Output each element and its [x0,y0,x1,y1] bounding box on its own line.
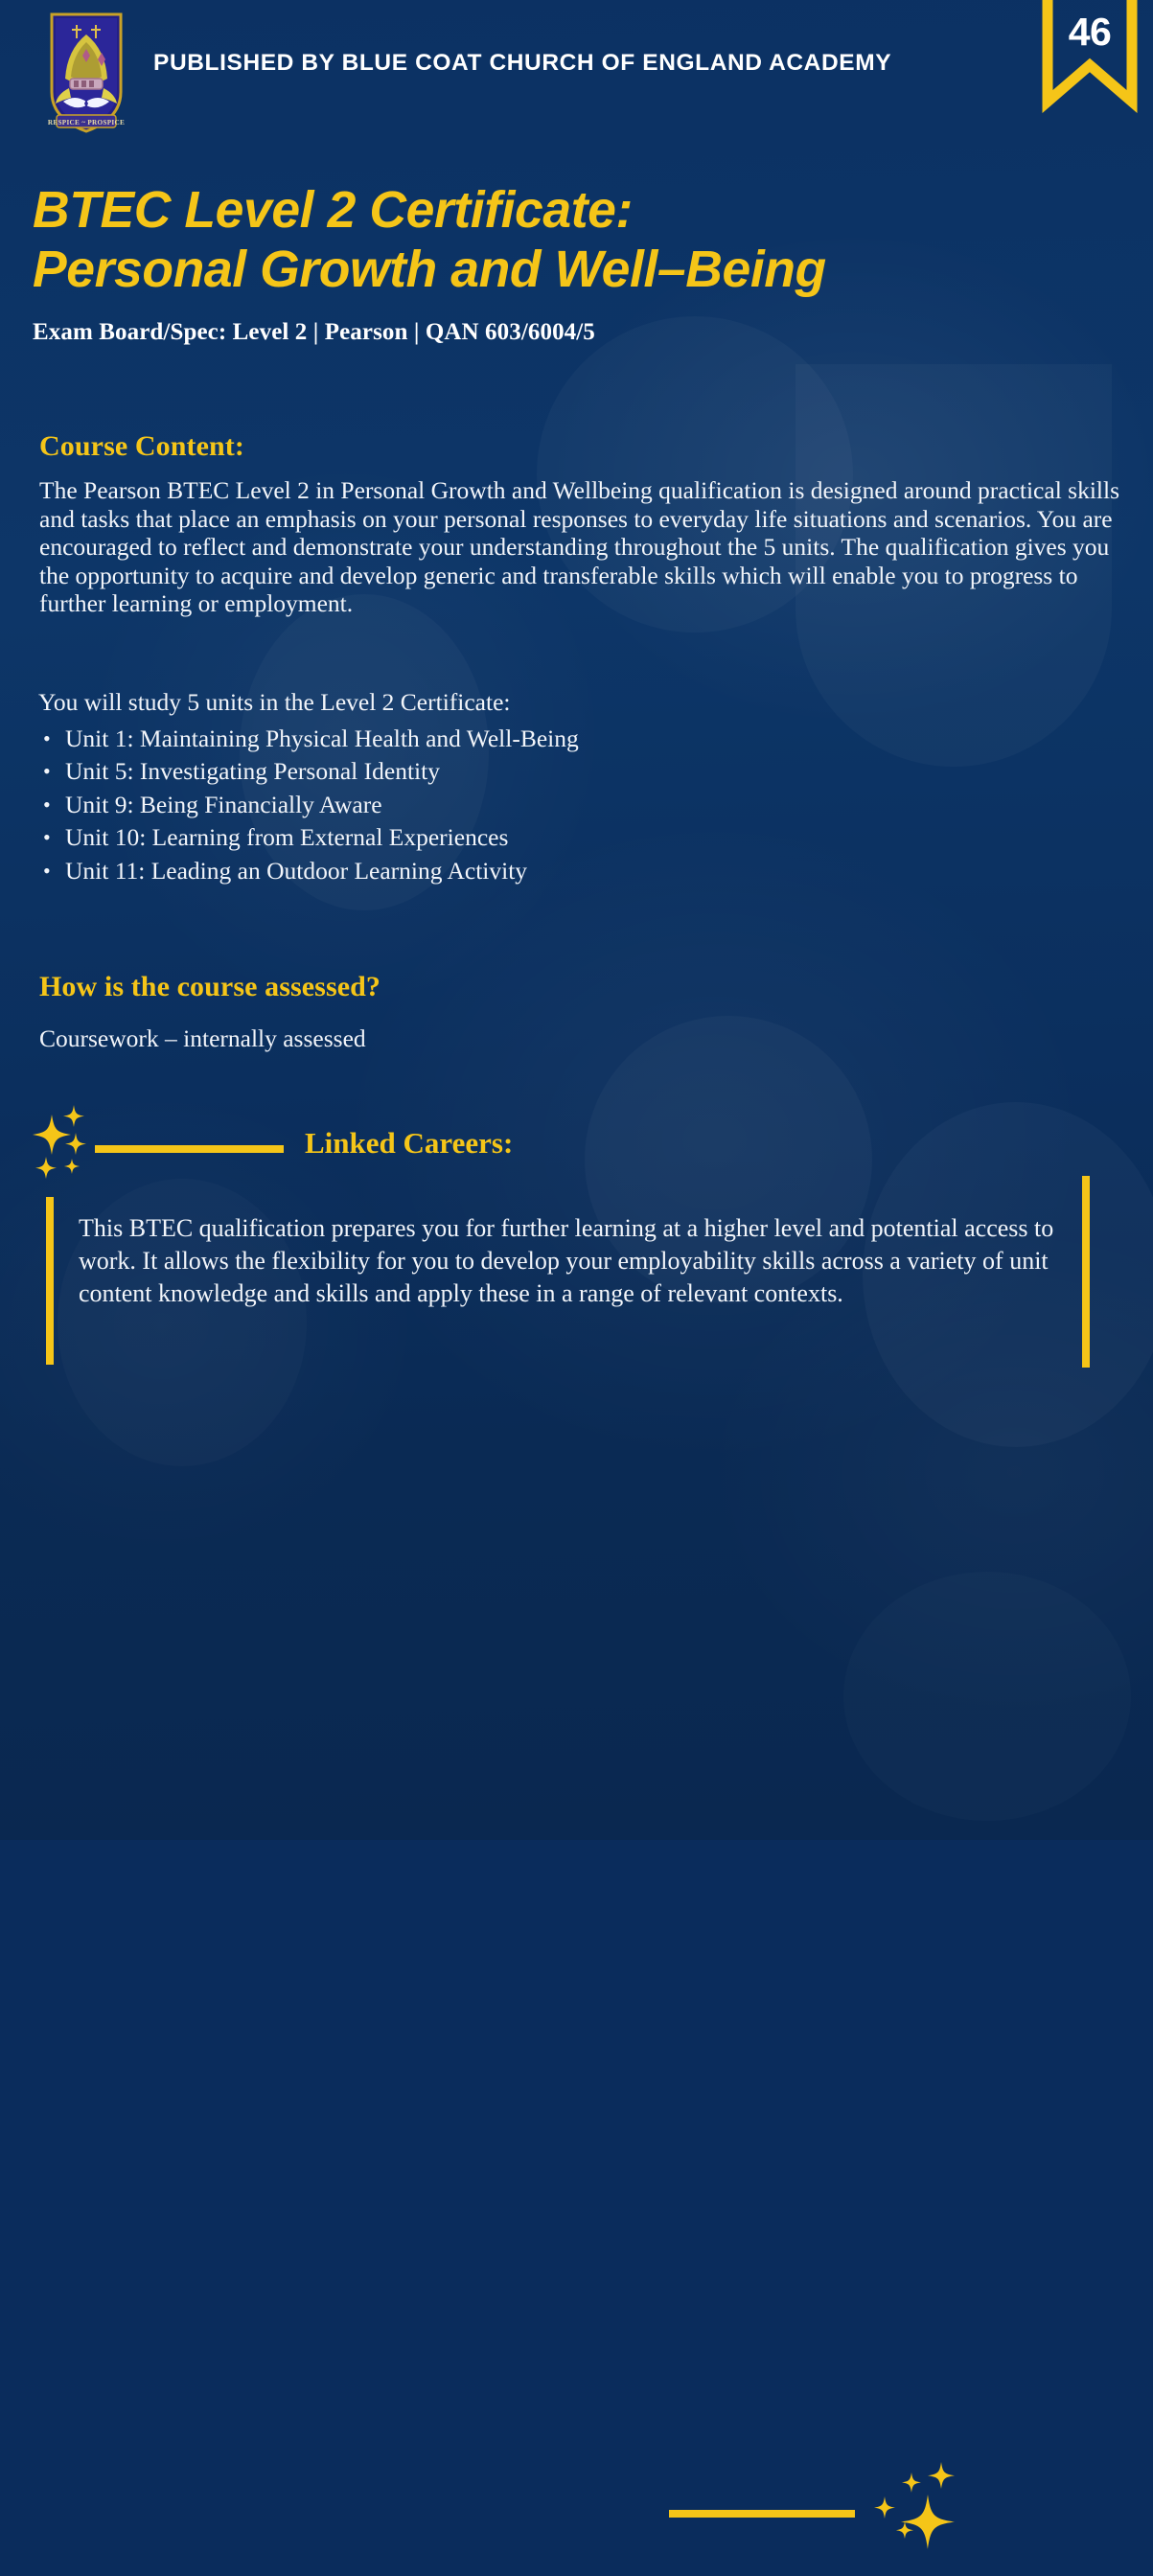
published-by-label: PUBLISHED BY BLUE COAT CHURCH OF ENGLAND… [153,50,891,77]
page-title-line-2: Personal Growth and Well–Being [33,240,1124,299]
list-item: Unit 1: Maintaining Physical Health and … [38,723,1045,756]
watermark-shape [843,1572,1131,1821]
page-number-badge: 46 [1032,10,1147,55]
list-item: Unit 10: Learning from External Experien… [38,821,1045,855]
assessment-heading: How is the course assessed? [39,971,998,1003]
page-title-line-1: BTEC Level 2 Certificate: [33,180,1124,240]
assessment-section: How is the course assessed? Coursework –… [39,971,998,1053]
course-content-section: Course Content: The Pearson BTEC Level 2… [39,430,1122,618]
course-content-paragraph: The Pearson BTEC Level 2 in Personal Gro… [39,476,1120,618]
list-item: Unit 5: Investigating Personal Identity [38,755,1045,789]
linked-careers-box: This BTEC qualification prepares you for… [0,1197,1153,1382]
page-title: BTEC Level 2 Certificate: Personal Growt… [33,180,1124,299]
list-item: Unit 9: Being Financially Aware [38,789,1045,822]
assessment-text: Coursework – internally assessed [39,1024,998,1053]
sparkle-cluster-icon [853,2456,968,2571]
linked-careers-header: Linked Careers: [0,1115,1153,1182]
units-list: Unit 1: Maintaining Physical Health and … [38,723,1045,888]
sparkle-cluster-icon [27,1101,109,1184]
course-content-heading: Course Content: [39,430,1122,463]
footer-rule-right [669,2510,855,2518]
exam-board-spec: Exam Board/Spec: Level 2 | Pearson | QAN… [33,319,595,346]
linked-careers-text: This BTEC qualification prepares you for… [79,1212,1066,1310]
careers-accent-bar-left [46,1197,54,1365]
careers-rule-left [95,1145,284,1153]
linked-careers-section: Linked Careers: This BTEC qualification … [0,1115,1153,1382]
school-crest-icon: RESPICE ~ PROSPICE [46,11,127,134]
careers-accent-bar-right [1082,1176,1090,1368]
list-item: Unit 11: Leading an Outdoor Learning Act… [38,855,1045,888]
units-intro: You will study 5 units in the Level 2 Ce… [38,688,1045,717]
svg-text:RESPICE ~ PROSPICE: RESPICE ~ PROSPICE [48,119,125,126]
page-header: RESPICE ~ PROSPICE PUBLISHED BY BLUE COA… [0,0,1153,144]
units-section: You will study 5 units in the Level 2 Ce… [38,688,1045,887]
linked-careers-heading: Linked Careers: [305,1126,513,1161]
